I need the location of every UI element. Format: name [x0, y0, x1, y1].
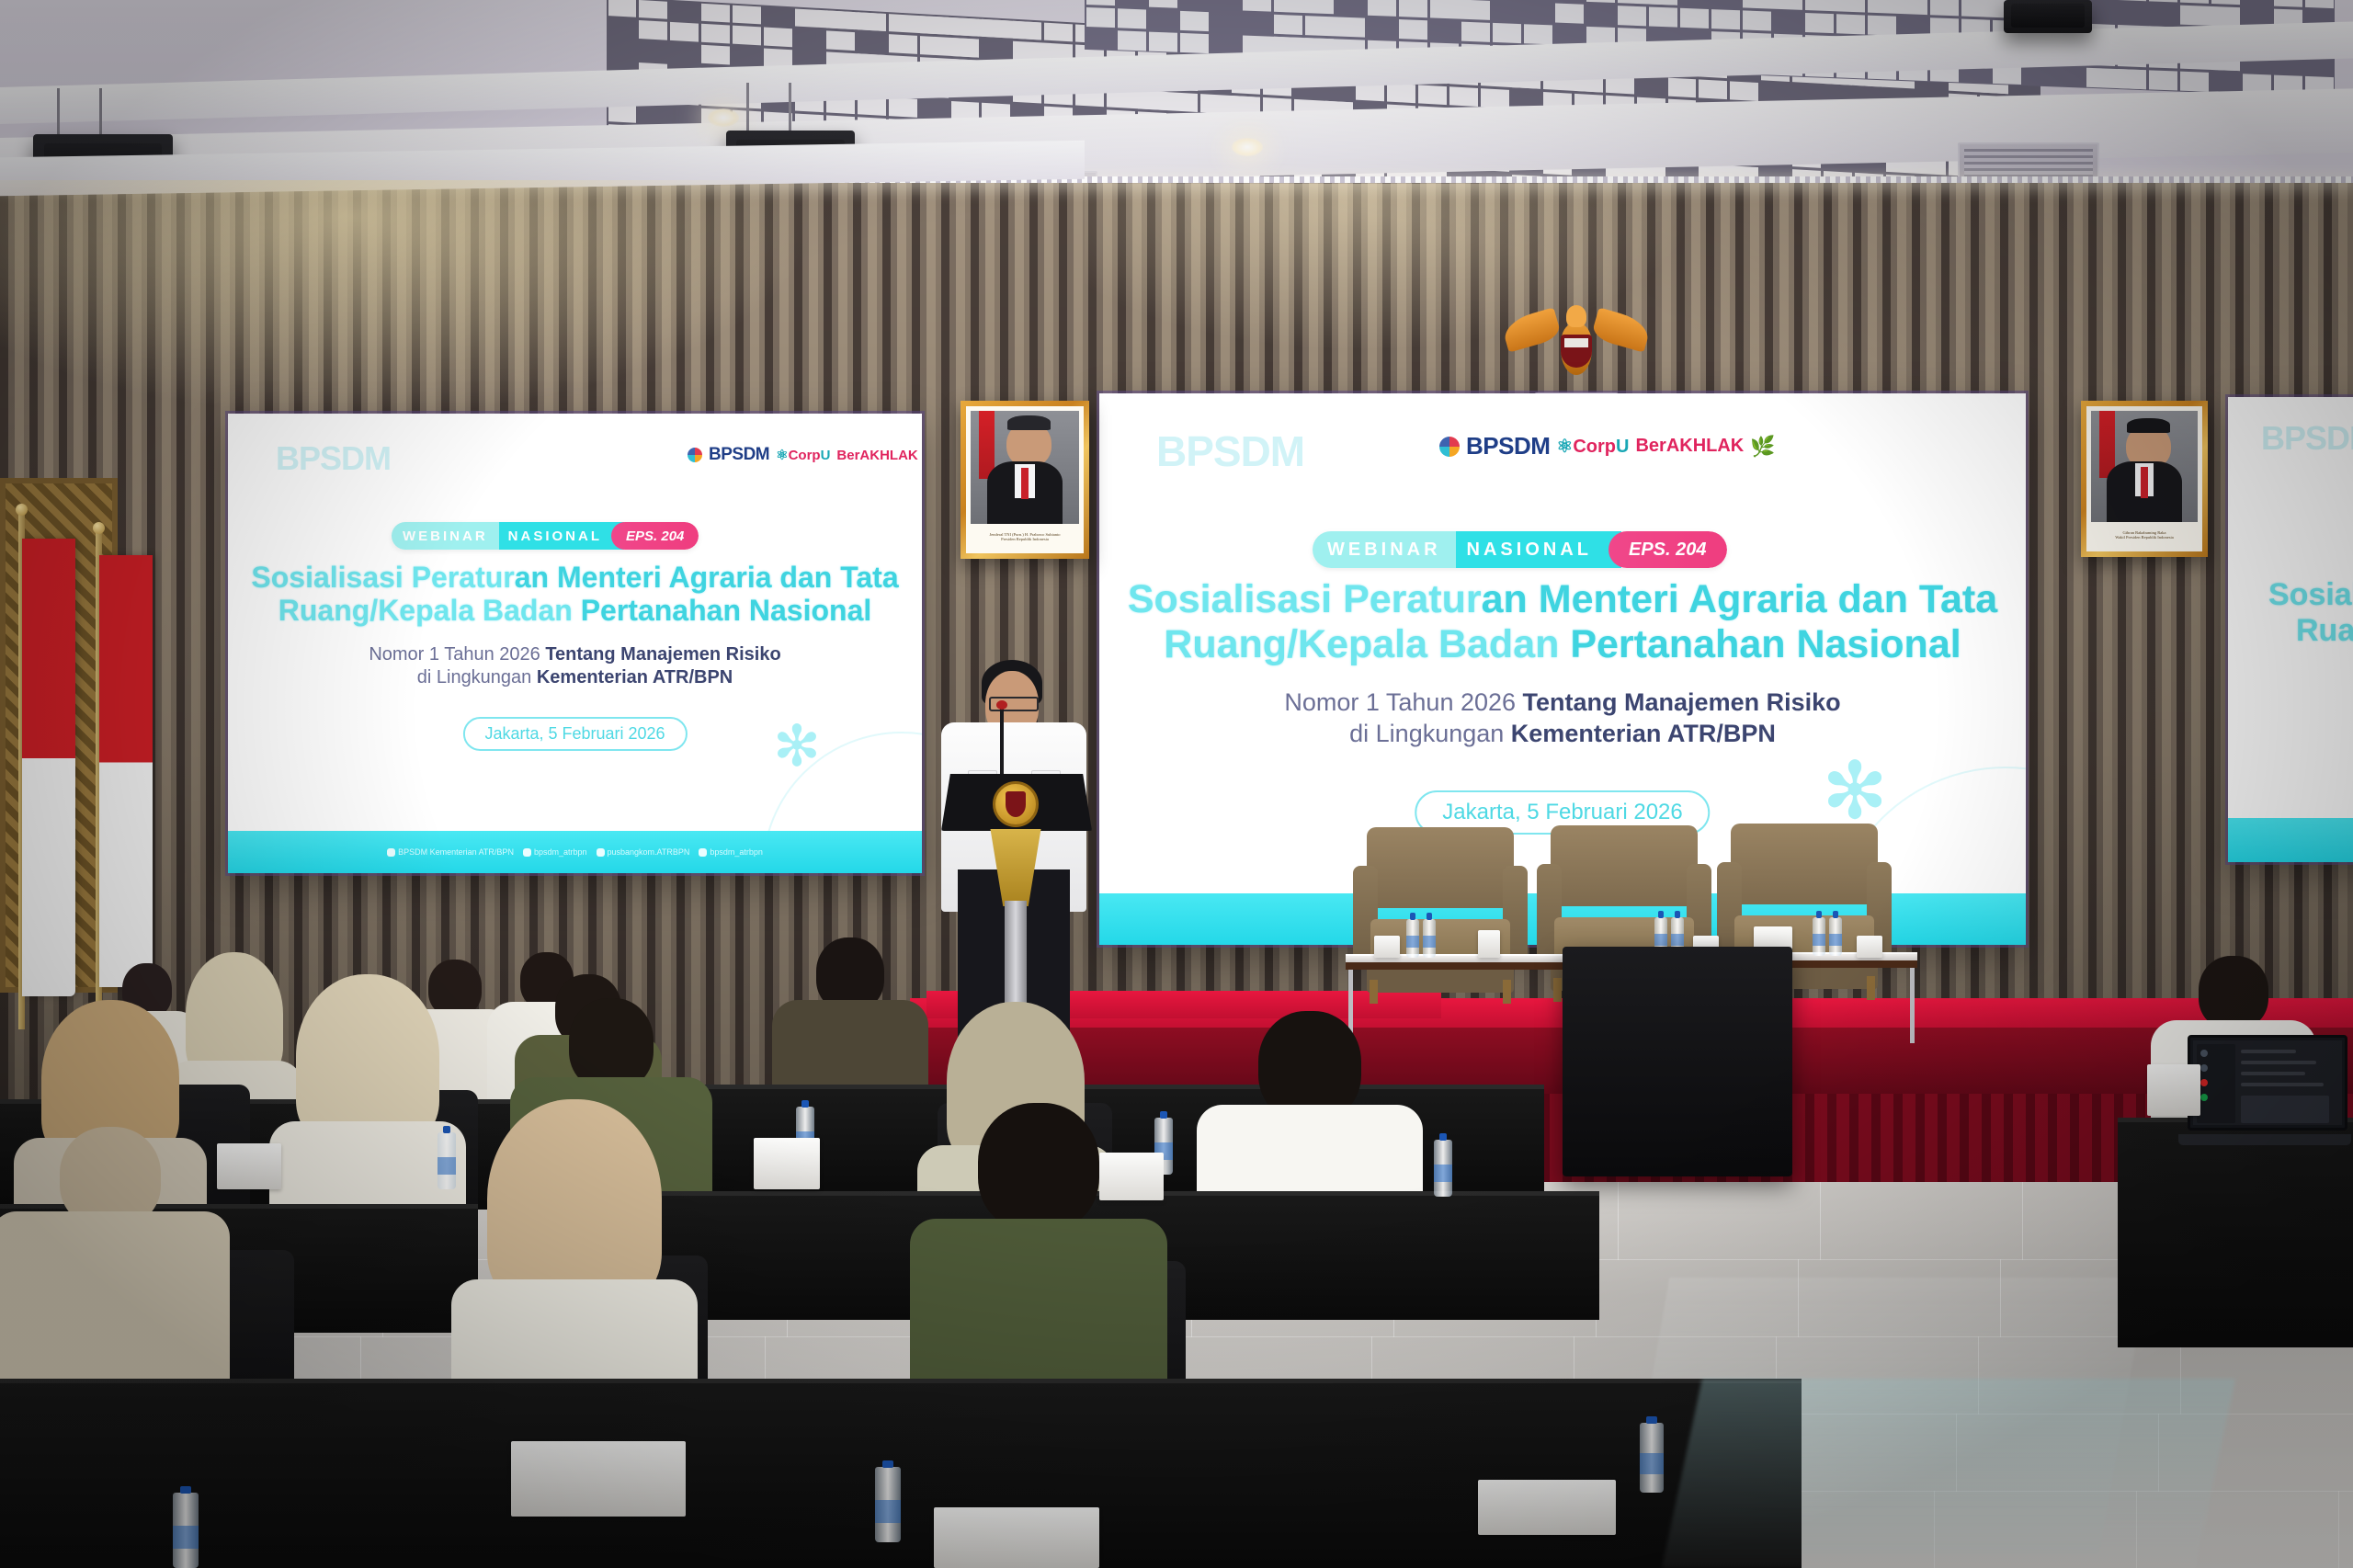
- youtube-handle: pusbangkom.ATRBPN: [608, 847, 690, 857]
- water-bottle-mid-1: [438, 1132, 456, 1189]
- lattice-cell: [1387, 84, 1415, 104]
- social-youtube: pusbangkom.ATRBPN: [597, 847, 690, 857]
- water-bottle-front-1: [173, 1493, 199, 1568]
- youtube-icon: [597, 848, 605, 857]
- logo-berakhlak-center: BerAKHLAK: [1635, 436, 1744, 457]
- title-line1-bold: an Menteri Agraria dan Tata: [515, 561, 899, 594]
- lattice-cell: [2180, 71, 2209, 91]
- lattice-cell: [701, 24, 730, 44]
- tissue-box-front-3: [1478, 1480, 1616, 1535]
- lattice-cell: [1930, 0, 1959, 16]
- indonesian-flag-1: [22, 539, 75, 996]
- slide-subtitle-left: Nomor 1 Tahun 2026 Tentang Manajemen Ris…: [228, 643, 922, 689]
- logo-corpu: ⚛CorpU: [776, 447, 830, 463]
- lattice-cell: [2211, 0, 2240, 5]
- lattice-cell: [2149, 70, 2177, 90]
- lattice-cell: [1086, 0, 1115, 6]
- title-line2-bold-center: Pertanahan Nasional: [1570, 622, 1961, 666]
- badge-webinar-label-center: WEBINAR: [1313, 531, 1456, 568]
- twitter-handle: bpsdm_atrbpn: [710, 847, 763, 857]
- lattice-cell: [1730, 82, 1758, 102]
- tissue-box-mid-3: [217, 1143, 281, 1189]
- lattice-cell: [1868, 15, 1896, 35]
- social-facebook: BPSDM Kementerian ATR/BPN: [387, 847, 514, 857]
- title-line2-bold: Pertanahan Nasional: [581, 594, 872, 627]
- water-bottle-stage-2: [1423, 919, 1436, 958]
- flag-finial-1: [16, 504, 28, 516]
- lattice-cell: [764, 28, 792, 48]
- audience-hijab-f2: [487, 1099, 662, 1307]
- lattice-cell: [1618, 6, 1646, 26]
- audience-hijab-m2: [296, 974, 439, 1145]
- garuda-wing-left: [1500, 307, 1562, 352]
- portrait-photo-president: [971, 411, 1079, 524]
- lattice-cell: [951, 38, 980, 58]
- ceiling-downlight-3: [1232, 138, 1263, 156]
- screen-logo-row-center: BPSDM ⚛CorpU BerAKHLAK 🌿: [1439, 432, 1776, 460]
- water-bottle-front-2: [875, 1467, 901, 1542]
- portrait-mat-vice: Gibran Rakabuming Raka Wakil Presiden Re…: [2086, 406, 2202, 551]
- logo-bpsdm: BPSDM: [709, 445, 769, 465]
- water-bottle-stage-1: [1406, 919, 1419, 958]
- laptop-ui-video-tile: [2241, 1096, 2329, 1123]
- lattice-cell: [1118, 30, 1146, 51]
- subtitle-line1-bold-center: Tentang Manajemen Risiko: [1523, 688, 1841, 716]
- portrait-tie-president: [1021, 468, 1029, 499]
- lattice-cell: [889, 34, 917, 54]
- screen-watermark-left: BPSDM: [276, 439, 391, 478]
- vice-president-portrait-frame: Gibran Rakabuming Raka Wakil Presiden Re…: [2081, 401, 2208, 557]
- table-edge-back: [699, 1085, 1544, 1089]
- laptop-ui-avatar-3: [2200, 1079, 2208, 1086]
- portrait-photo-vice: [2091, 411, 2198, 522]
- lattice-cell: [1243, 0, 1271, 11]
- lattice-cell: [1305, 16, 1365, 37]
- screen-watermark-right: BPSDM: [2261, 419, 2353, 458]
- lattice-cell: [670, 22, 699, 42]
- lattice-cell: [1138, 90, 1198, 111]
- logo-bpsdm-center: BPSDM: [1466, 432, 1550, 460]
- speaker-hanger-4: [789, 83, 791, 138]
- title-line1-soft: Sosialisasi Peratur: [251, 561, 514, 594]
- subtitle-line1-soft-center: Nomor 1 Tahun 2026: [1284, 688, 1522, 716]
- lattice-cell: [1399, 0, 1427, 17]
- lattice-cell: [1836, 14, 1865, 34]
- floor-screen-reflection: [1662, 1379, 2235, 1568]
- lattice-cell: [826, 31, 855, 51]
- lattice-cell: [1461, 21, 1490, 41]
- water-bottle-mid-4: [1434, 1140, 1452, 1197]
- lattice-cell: [608, 0, 637, 17]
- tissue-box-stage-5: [1857, 936, 1882, 958]
- president-name-line2: Presiden Republik Indonesia: [1001, 537, 1049, 541]
- lattice-cell: [733, 5, 761, 25]
- badge-nasional-label-center: NASIONAL: [1456, 531, 1621, 568]
- badge-webinar-label: WEBINAR: [392, 522, 499, 550]
- screen-logo-row-left: BPSDM ⚛CorpU BerAKHLAK 🌿: [688, 445, 922, 465]
- water-bottle-front-3: [1640, 1423, 1664, 1493]
- indonesian-flag-2: [99, 555, 153, 987]
- lattice-cell: [1449, 86, 1478, 107]
- title-line2-soft: Ruang/Kepala Badan: [278, 594, 581, 627]
- lattice-cell: [733, 26, 761, 46]
- badge-episode-label-center: EPS. 204: [1608, 531, 1727, 568]
- armchair-back-2: [1551, 825, 1698, 906]
- laptop-ui-row-3: [2241, 1072, 2305, 1075]
- webinar-badge-center: WEBINAR NASIONAL EPS. 204: [1313, 531, 1727, 568]
- lattice-cell: [2180, 0, 2209, 3]
- portrait-nameplate-vice: Gibran Rakabuming Raka Wakil Presiden Re…: [2091, 522, 2198, 547]
- lattice-cell: [1868, 0, 1927, 15]
- lattice-cell: [701, 3, 730, 23]
- logo-bangga-center: 🌿: [1750, 435, 1775, 459]
- speaker-hanger-1: [57, 88, 60, 140]
- title-line2-soft-center: Ruang/Kepala Badan: [1164, 622, 1570, 666]
- instagram-handle: bpsdm_atrbpn: [534, 847, 587, 857]
- audience-head-f3: [978, 1103, 1099, 1232]
- audience-table-front: [0, 1379, 1802, 1568]
- slide-title-right: Sosialisasi Peratur Ruang/Kepala Badan: [2268, 577, 2353, 649]
- projection-screen-right: BPSDM Sosialisasi Peratur Ruang/Kepala B…: [2228, 397, 2353, 862]
- portrait-mat-president: Jenderal TNI (Purn.) H. Prabowo Subianto…: [966, 406, 1084, 553]
- garuda-head: [1566, 305, 1586, 327]
- lattice-cell: [1680, 7, 1709, 28]
- audience-person-mid-2: [276, 974, 460, 1241]
- tissue-box-stage-2: [1478, 930, 1500, 958]
- conference-hall-photo: BPSDM BPSDM ⚛CorpU BerAKHLAK 🌿 WEBINAR N…: [0, 0, 2353, 1568]
- audience-table-right: [2118, 1118, 2353, 1347]
- operator-laptop[interactable]: [2188, 1035, 2342, 1145]
- facebook-handle: BPSDM Kementerian ATR/BPN: [398, 847, 514, 857]
- snowflake-decor-center: ✻: [1822, 752, 1888, 831]
- laptop-ui-avatar-4: [2200, 1094, 2208, 1101]
- lattice-cell: [2274, 0, 2302, 6]
- armchair-back-1: [1367, 827, 1514, 908]
- garuda-pancasila-emblem: [1507, 303, 1645, 404]
- lattice-cell: [2305, 0, 2334, 8]
- subtitle-line2-bold-center: Kementerian ATR/BPN: [1511, 720, 1776, 747]
- slide-footer-right: [2228, 818, 2353, 862]
- logo-berakhlak: BerAKHLAK: [836, 448, 917, 463]
- laptop-ui-avatar-2: [2200, 1064, 2208, 1072]
- laptop-ui-avatar-1: [2200, 1050, 2208, 1057]
- subtitle-line2-soft-center: di Lingkungan: [1349, 720, 1511, 747]
- logo-corpu-center: ⚛CorpU: [1556, 435, 1629, 458]
- lattice-cell: [1668, 78, 1697, 98]
- tissue-box-stage-1: [1374, 936, 1400, 958]
- portrait-nameplate-president: Jenderal TNI (Purn.) H. Prabowo Subianto…: [971, 524, 1079, 549]
- floor-tile: [1820, 1182, 2023, 1260]
- lattice-cell: [1149, 31, 1177, 51]
- laptop-ui-row-2: [2241, 1061, 2316, 1064]
- president-portrait-frame: Jenderal TNI (Purn.) H. Prabowo Subianto…: [961, 401, 1089, 559]
- twitter-icon: [699, 848, 707, 857]
- laptop-ui-row-1: [2241, 1050, 2296, 1053]
- lattice-cell: [1805, 12, 1834, 32]
- garuda-shield: [1561, 335, 1592, 368]
- globe-icon: [688, 448, 702, 462]
- social-twitter: bpsdm_atrbpn: [699, 847, 763, 857]
- lattice-cell: [1368, 0, 1396, 16]
- lattice-cell: [1524, 24, 1552, 44]
- portrait-tie-vice: [2141, 467, 2148, 498]
- slide-title-center: Sosialisasi Peraturan Menteri Agraria da…: [1099, 577, 2026, 667]
- slide-subtitle-center: Nomor 1 Tahun 2026 Tentang Manajemen Ris…: [1099, 687, 2026, 750]
- ceiling-downlight-2: [708, 108, 739, 127]
- podium-emblem: [993, 781, 1039, 827]
- water-bottle-stage-6: [1829, 917, 1842, 956]
- lattice-cell: [1180, 32, 1209, 52]
- floor-tile: [1618, 1182, 1821, 1260]
- slide-footer-handles-left: BPSDM Kementerian ATR/BPN bpsdm_atrbpn p…: [228, 831, 922, 873]
- ceiling-speaker-right: [2004, 0, 2092, 33]
- lattice-cell: [701, 45, 730, 65]
- projection-screen-left: BPSDM BPSDM ⚛CorpU BerAKHLAK 🌿 WEBINAR N…: [228, 414, 922, 873]
- tissue-box-front-2: [934, 1507, 1099, 1568]
- table-edge-front: [0, 1379, 1802, 1383]
- logo-kementerian-atr-bpn-center: [1439, 437, 1460, 457]
- lattice-cell: [1649, 6, 1677, 27]
- lattice-cell: [1430, 0, 1490, 19]
- instagram-icon: [523, 848, 531, 857]
- laptop-lid: [2188, 1035, 2347, 1131]
- peci-cap-president: [1007, 415, 1051, 430]
- lattice-cell: [2149, 0, 2177, 2]
- title-line2-soft-right: Ruang/Kepala Badan: [2296, 613, 2353, 648]
- tissue-box-mid-1: [754, 1138, 820, 1189]
- lattice-cell: [1274, 14, 1302, 34]
- lattice-cell: [2118, 69, 2146, 89]
- facebook-icon: [387, 848, 395, 857]
- audience-head-b7: [2199, 956, 2268, 1029]
- title-line1-soft-center: Sosialisasi Peratur: [1128, 577, 1482, 621]
- lattice-cell: [1699, 80, 1727, 100]
- lattice-cell: [1086, 6, 1115, 27]
- subtitle-line2-bold: Kementerian ATR/BPN: [537, 667, 733, 687]
- lattice-cell: [1711, 9, 1740, 29]
- hair-vice: [2127, 418, 2169, 433]
- badge-nasional-label: NASIONAL: [499, 522, 624, 550]
- speaker-hanger-3: [746, 83, 749, 138]
- lattice-cell: [1555, 3, 1584, 23]
- lattice-cell: [1743, 10, 1771, 30]
- laptop-ui-row-4: [2241, 1083, 2324, 1086]
- lattice-cell: [1274, 0, 1334, 14]
- audience-head-m3: [569, 998, 654, 1090]
- lattice-cell: [1044, 22, 1073, 42]
- slide-date-pill-left: Jakarta, 5 Februari 2026: [462, 717, 687, 751]
- lattice-cell: [889, 97, 917, 118]
- slide-footer-left: BPSDM Kementerian ATR/BPN bpsdm_atrbpn p…: [228, 831, 922, 873]
- speaker-hanger-2: [99, 88, 102, 140]
- tissue-box-right-table: [2147, 1064, 2200, 1116]
- screen-watermark-center: BPSDM: [1156, 426, 1304, 476]
- coffee-table-leg-right-2: [1910, 968, 1915, 1043]
- globe-icon-center: [1439, 437, 1460, 457]
- title-line1-bold-center: an Menteri Agraria dan Tata: [1482, 577, 1998, 621]
- lattice-cell: [1493, 22, 1521, 42]
- laptop-screen[interactable]: [2193, 1040, 2342, 1125]
- podium-microphone-head: [996, 700, 1007, 710]
- lattice-cell: [1649, 0, 1677, 5]
- laptop-base: [2178, 1134, 2351, 1145]
- tissue-box-front-1: [511, 1441, 686, 1517]
- logo-kementerian-atr-bpn: [688, 448, 702, 462]
- garuda-wing-right: [1590, 307, 1652, 352]
- lattice-cell: [1149, 0, 1177, 7]
- lattice-cell: [1013, 20, 1041, 40]
- lattice-cell: [1118, 8, 1146, 28]
- lattice-cell: [1418, 85, 1447, 106]
- slide-title-left: Sosialisasi Peraturan Menteri Agraria da…: [228, 561, 922, 628]
- lattice-cell: [1805, 0, 1865, 12]
- lattice-cell: [1399, 18, 1427, 39]
- lattice-cell: [1743, 0, 1802, 9]
- lattice-cell: [858, 12, 886, 32]
- water-bottle-stage-5: [1813, 917, 1825, 956]
- social-instagram: bpsdm_atrbpn: [523, 847, 587, 857]
- title-line1-soft-right: Sosialisasi Peratur: [2268, 577, 2353, 612]
- vice-president-name-line2: Wakil Presiden Republik Indonesia: [2115, 535, 2174, 540]
- lattice-cell: [1586, 0, 1615, 3]
- lattice-cell: [2118, 0, 2146, 1]
- lattice-cell: [2180, 5, 2240, 26]
- webinar-badge-left: WEBINAR NASIONAL EPS. 204: [392, 522, 699, 550]
- armchair-back-3: [1731, 824, 1878, 904]
- subtitle-line1-soft: Nomor 1 Tahun 2026: [369, 644, 545, 665]
- flag-finial-2: [93, 522, 105, 534]
- lattice-cell: [639, 0, 667, 19]
- lattice-cell: [639, 20, 667, 40]
- lattice-cell: [1180, 10, 1209, 30]
- badge-episode-label: EPS. 204: [611, 522, 699, 550]
- confidence-monitor: [1563, 947, 1792, 1176]
- subtitle-line1-bold: Tentang Manajemen Risiko: [545, 644, 780, 665]
- subtitle-line2-soft: di Lingkungan: [417, 667, 537, 687]
